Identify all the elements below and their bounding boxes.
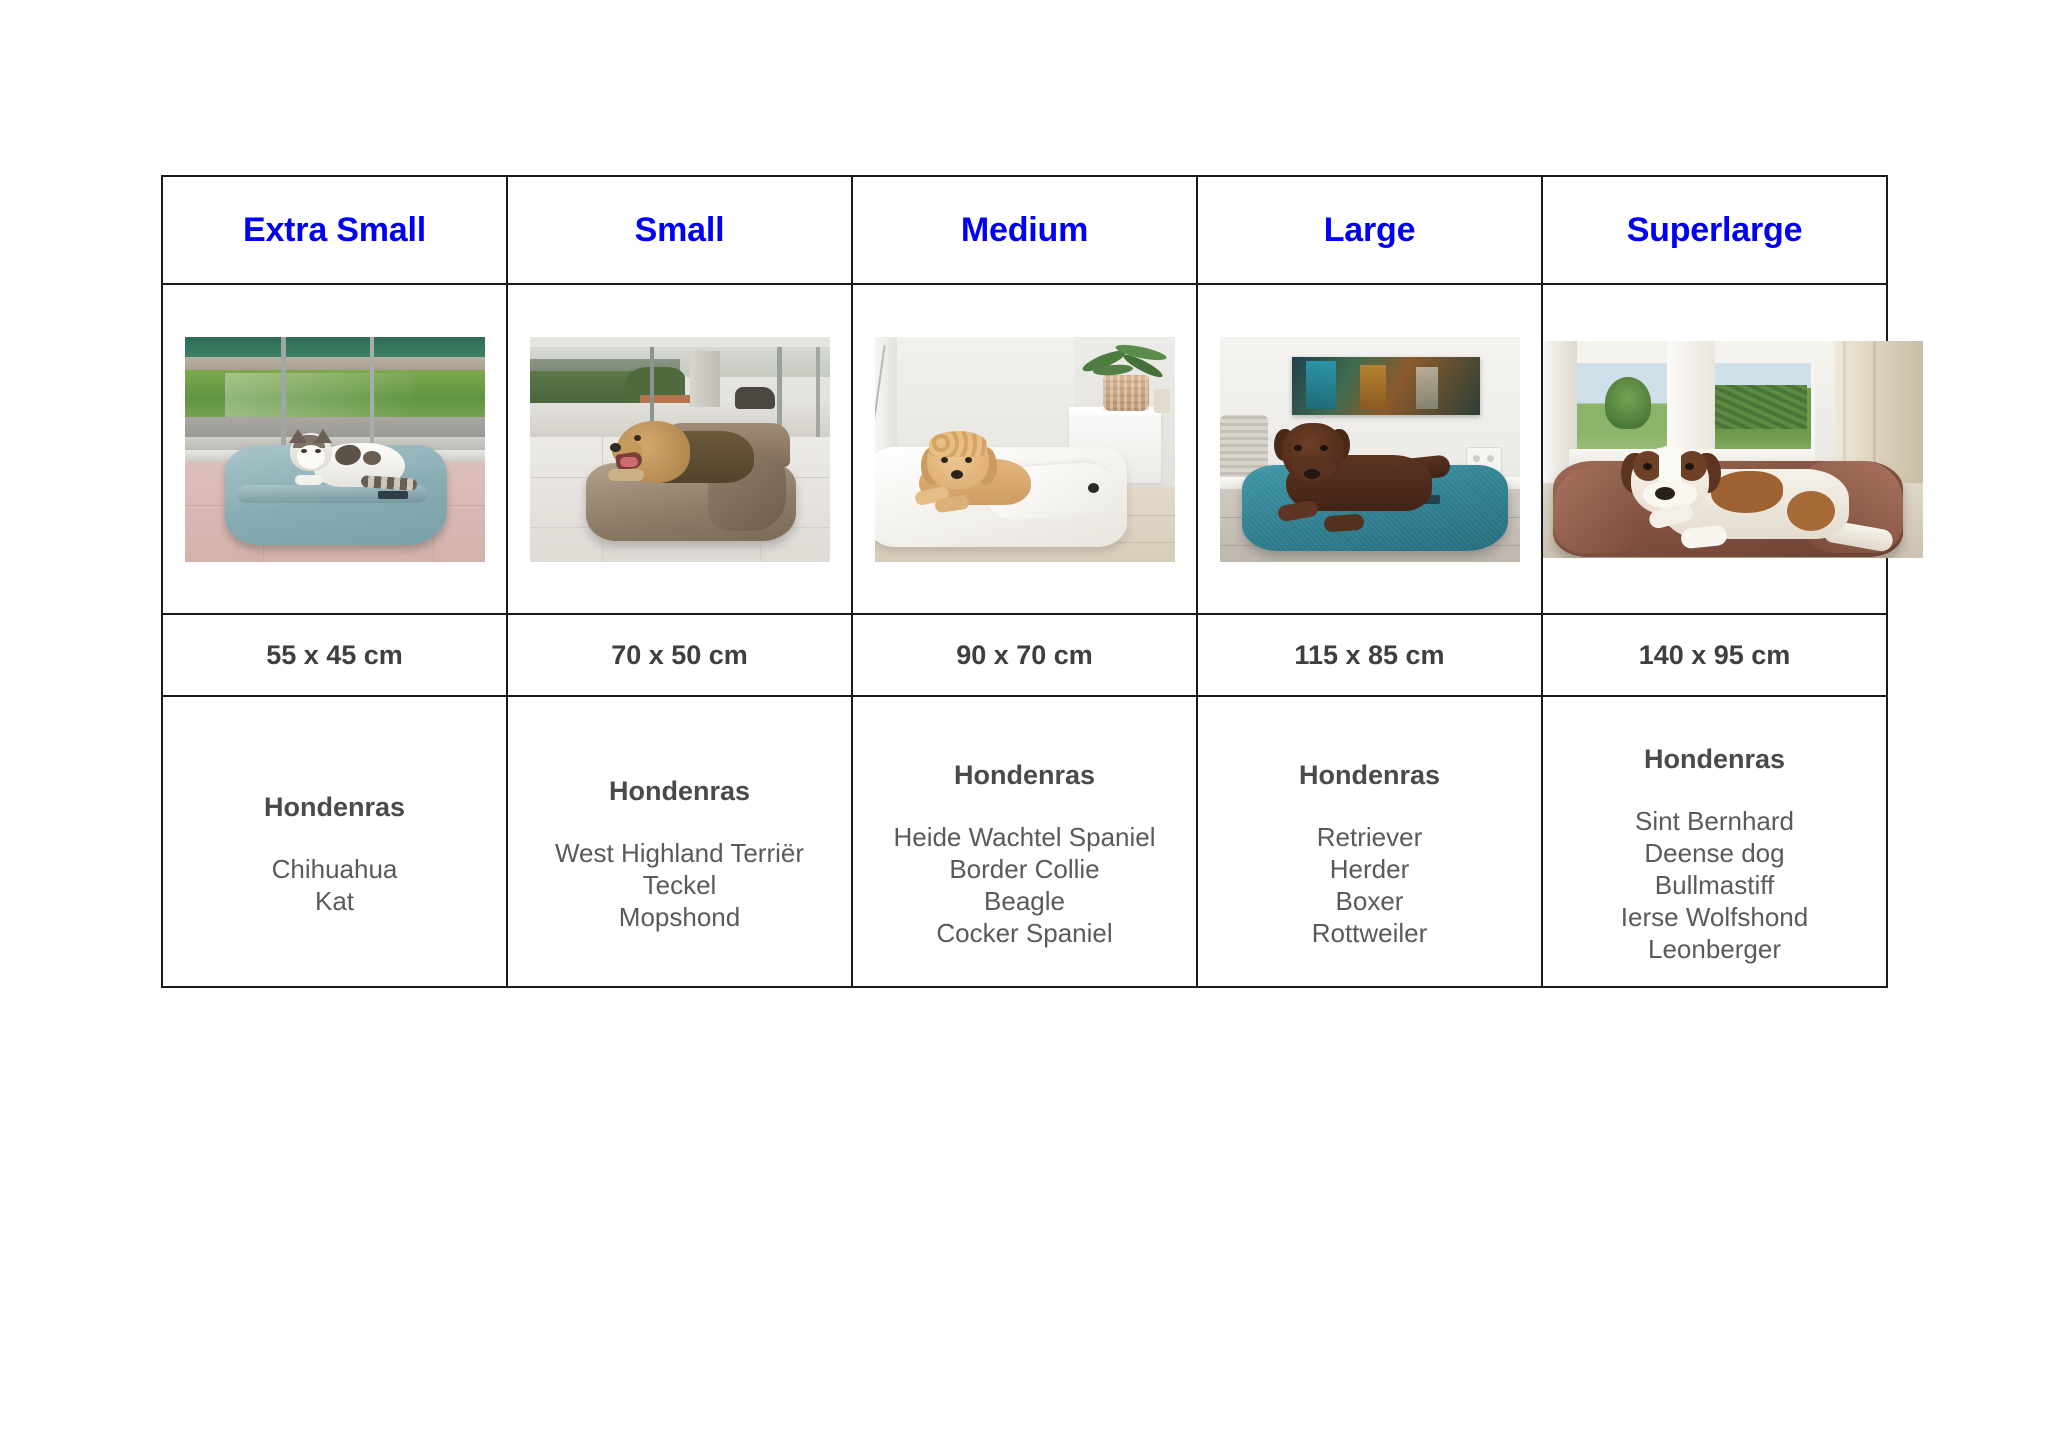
header-cell-extra-small: Extra Small (162, 176, 507, 284)
header-cell-superlarge: Superlarge (1542, 176, 1887, 284)
image-cell-medium (852, 284, 1197, 614)
breed-item: Border Collie (853, 853, 1196, 885)
breed-cell-superlarge: Hondenras Sint BernhardDeense dogBullmas… (1542, 696, 1887, 987)
breed-cell-large: Hondenras RetrieverHerderBoxerRottweiler (1197, 696, 1542, 987)
breed-item: West Highland Terriër (508, 837, 851, 869)
dimension-medium: 90 x 70 cm (853, 642, 1196, 669)
breed-item: Deense dog (1543, 837, 1886, 869)
header-cell-small: Small (507, 176, 852, 284)
breed-item: Mopshond (508, 901, 851, 933)
breed-cell-extra-small: Hondenras ChihuahuaKat (162, 696, 507, 987)
breed-title-superlarge: Hondenras (1543, 746, 1886, 773)
breed-list-medium: Heide Wachtel SpanielBorder CollieBeagle… (853, 821, 1196, 949)
dimension-cell-large: 115 x 85 cm (1197, 614, 1542, 696)
photo-cockapoo-on-white-dog-bed (875, 337, 1175, 562)
breed-title-large: Hondenras (1198, 762, 1541, 789)
dimension-cell-small: 70 x 50 cm (507, 614, 852, 696)
dimension-large: 115 x 85 cm (1198, 642, 1541, 669)
photo-terrier-on-taupe-dog-bed (530, 337, 830, 562)
breed-item: Herder (1198, 853, 1541, 885)
image-cell-extra-small (162, 284, 507, 614)
breed-item: Ierse Wolfshond (1543, 901, 1886, 933)
photo-cat-on-light-blue-dog-bed (185, 337, 485, 562)
breed-item: Beagle (853, 885, 1196, 917)
dimension-cell-medium: 90 x 70 cm (852, 614, 1197, 696)
breed-item: Sint Bernhard (1543, 805, 1886, 837)
breed-list-small: West Highland TerriërTeckelMopshond (508, 837, 851, 933)
breed-item: Cocker Spaniel (853, 917, 1196, 949)
dimension-superlarge: 140 x 95 cm (1543, 642, 1886, 669)
size-label-large: Large (1198, 213, 1541, 247)
image-cell-superlarge (1542, 284, 1887, 614)
breed-cell-medium: Hondenras Heide Wachtel SpanielBorder Co… (852, 696, 1197, 987)
breed-list-superlarge: Sint BernhardDeense dogBullmastiffIerse … (1543, 805, 1886, 965)
breed-cell-small: Hondenras West Highland TerriërTeckelMop… (507, 696, 852, 987)
breed-title-small: Hondenras (508, 778, 851, 805)
breed-item: Teckel (508, 869, 851, 901)
table-image-row (162, 284, 1887, 614)
dimension-cell-extra-small: 55 x 45 cm (162, 614, 507, 696)
document-page: Extra Small Small Medium Large Superlarg… (0, 0, 2048, 1448)
image-cell-large (1197, 284, 1542, 614)
dimension-extra-small: 55 x 45 cm (163, 642, 506, 669)
breed-item: Bullmastiff (1543, 869, 1886, 901)
photo-saint-bernard-on-brown-dog-bed (1543, 341, 1923, 558)
size-label-extra-small: Extra Small (163, 213, 506, 247)
breed-item: Chihuahua (163, 853, 506, 885)
header-cell-medium: Medium (852, 176, 1197, 284)
breed-item: Retriever (1198, 821, 1541, 853)
size-label-small: Small (508, 213, 851, 247)
breed-item: Heide Wachtel Spaniel (853, 821, 1196, 853)
table-breed-row: Hondenras ChihuahuaKat Hondenras West Hi… (162, 696, 1887, 987)
breed-list-extra-small: ChihuahuaKat (163, 853, 506, 917)
breed-list-large: RetrieverHerderBoxerRottweiler (1198, 821, 1541, 949)
breed-item: Leonberger (1543, 933, 1886, 965)
table-header-row: Extra Small Small Medium Large Superlarg… (162, 176, 1887, 284)
breed-item: Kat (163, 885, 506, 917)
photo-labrador-on-teal-dog-bed (1220, 337, 1520, 562)
image-cell-small (507, 284, 852, 614)
dimension-small: 70 x 50 cm (508, 642, 851, 669)
header-cell-large: Large (1197, 176, 1542, 284)
breed-title-medium: Hondenras (853, 762, 1196, 789)
dog-bed-size-table: Extra Small Small Medium Large Superlarg… (161, 175, 1888, 988)
dimension-cell-superlarge: 140 x 95 cm (1542, 614, 1887, 696)
breed-item: Boxer (1198, 885, 1541, 917)
size-label-superlarge: Superlarge (1543, 213, 1886, 247)
table-dimension-row: 55 x 45 cm 70 x 50 cm 90 x 70 cm 115 x 8… (162, 614, 1887, 696)
breed-title-extra-small: Hondenras (163, 794, 506, 821)
breed-item: Rottweiler (1198, 917, 1541, 949)
size-label-medium: Medium (853, 213, 1196, 247)
